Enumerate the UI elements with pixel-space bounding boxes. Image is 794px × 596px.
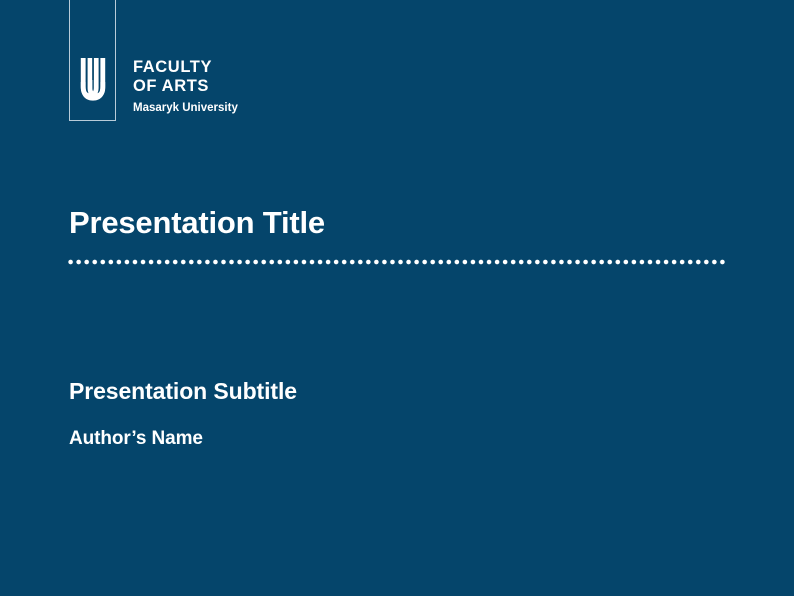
title-slide: FACULTY OF ARTS Masaryk University Prese… <box>0 0 794 596</box>
masaryk-university-mu-monogram-icon <box>80 58 106 102</box>
faculty-logo[interactable]: FACULTY OF ARTS Masaryk University <box>69 0 249 124</box>
page-title: Presentation Title <box>69 205 325 241</box>
logo-wordmark: FACULTY OF ARTS Masaryk University <box>133 58 333 116</box>
author-name: Author’s Name <box>69 428 203 450</box>
page-subtitle: Presentation Subtitle <box>69 378 297 405</box>
faculty-line-2: OF ARTS <box>133 77 333 96</box>
faculty-line-1: FACULTY <box>133 58 333 77</box>
dotted-divider <box>68 259 726 265</box>
university-name: Masaryk University <box>133 100 333 116</box>
